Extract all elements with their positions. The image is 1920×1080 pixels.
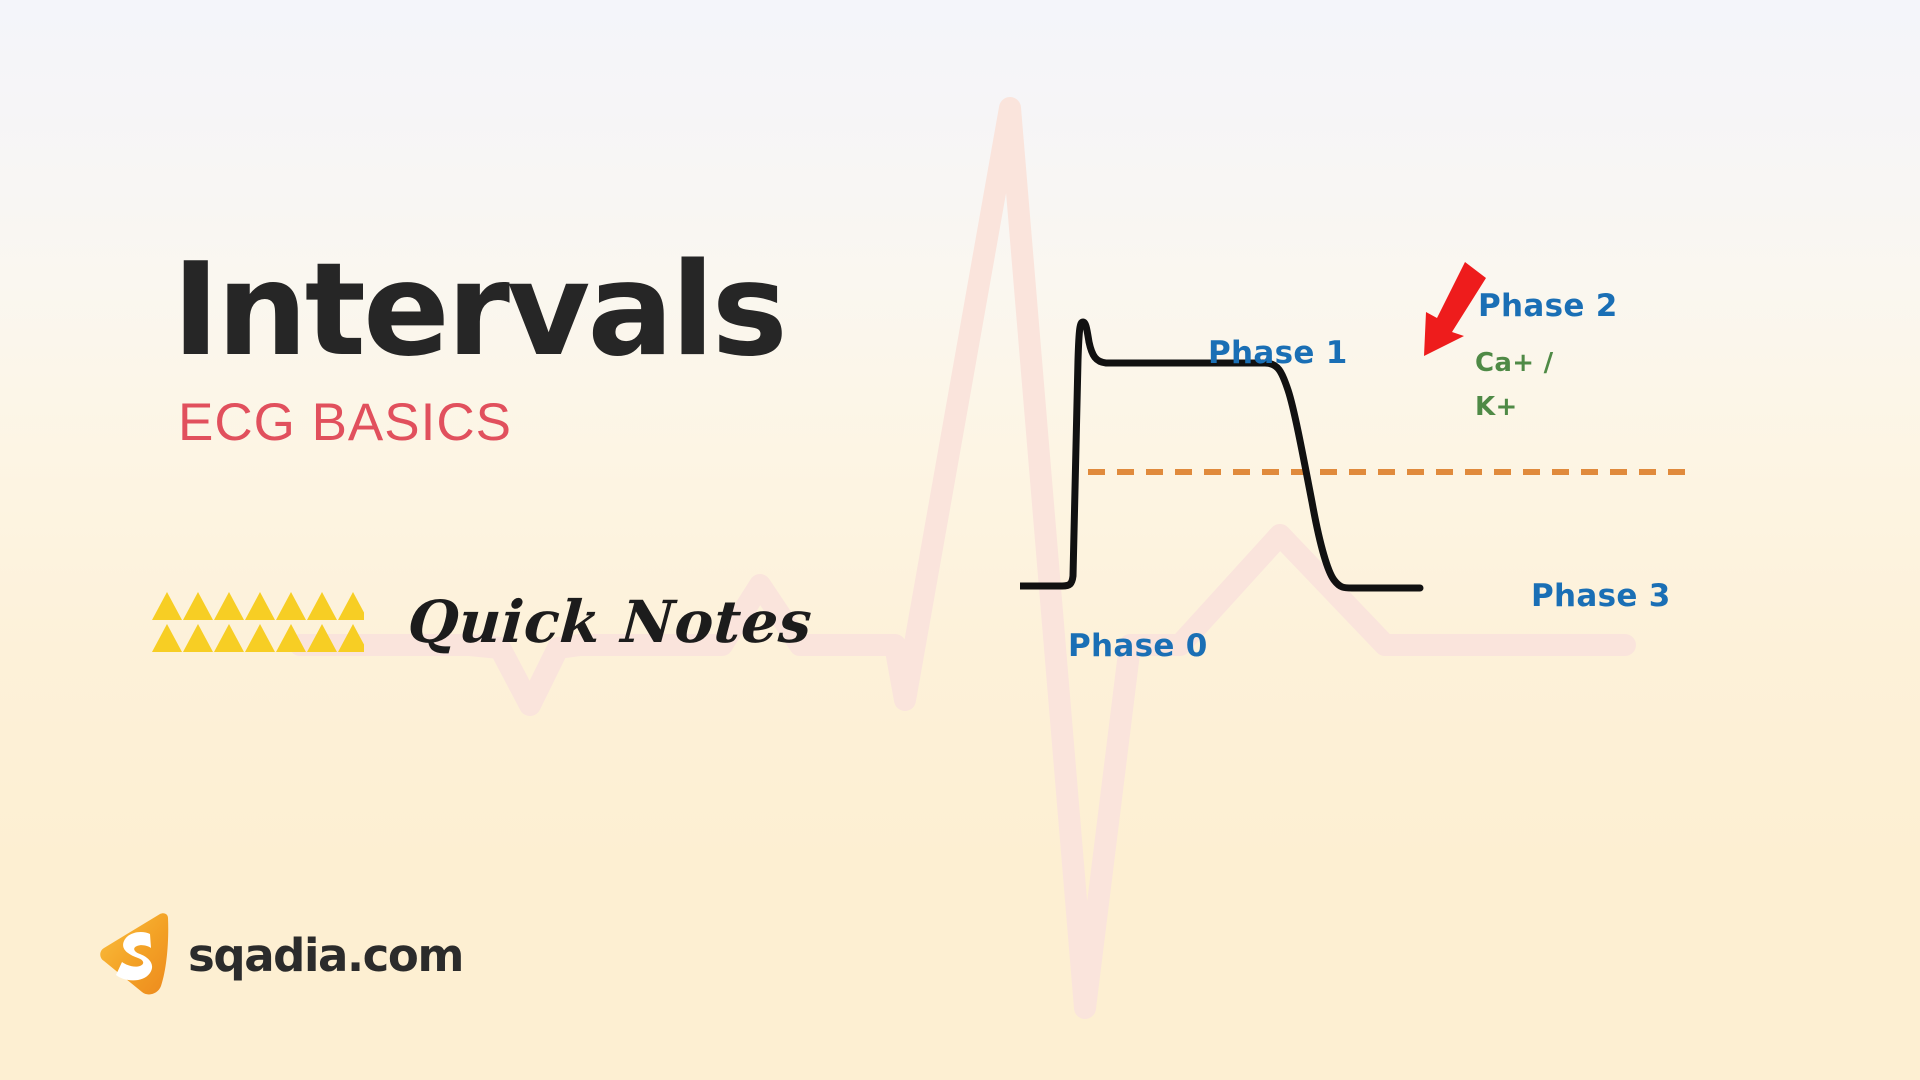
brand-logo-text: sqadia.com <box>188 929 463 982</box>
sqadia-logo-icon <box>98 912 172 998</box>
ion-calcium-label: Ca+ / <box>1475 348 1553 378</box>
phase-0-label: Phase 0 <box>1068 628 1208 664</box>
page-title: Intervals <box>172 246 952 377</box>
ion-potassium-label: K+ <box>1475 392 1518 422</box>
red-down-arrow-icon <box>1424 262 1486 356</box>
brand-logo[interactable]: sqadia.com <box>98 912 463 998</box>
quick-notes-row: Quick Notes <box>152 588 812 656</box>
page-subtitle: ECG BASICS <box>178 395 952 451</box>
quick-notes-label: Quick Notes <box>406 588 815 656</box>
triangle-decoration-icon <box>152 590 364 654</box>
slide-root: Intervals ECG BASICS Quick Notes <box>0 0 1920 1080</box>
title-block: Intervals ECG BASICS <box>172 246 952 450</box>
phase-1-label: Phase 1 <box>1208 335 1348 371</box>
cardiac-action-potential-chart <box>1020 240 1760 760</box>
phase-2-label: Phase 2 <box>1478 288 1618 324</box>
phase-3-label: Phase 3 <box>1531 578 1671 614</box>
